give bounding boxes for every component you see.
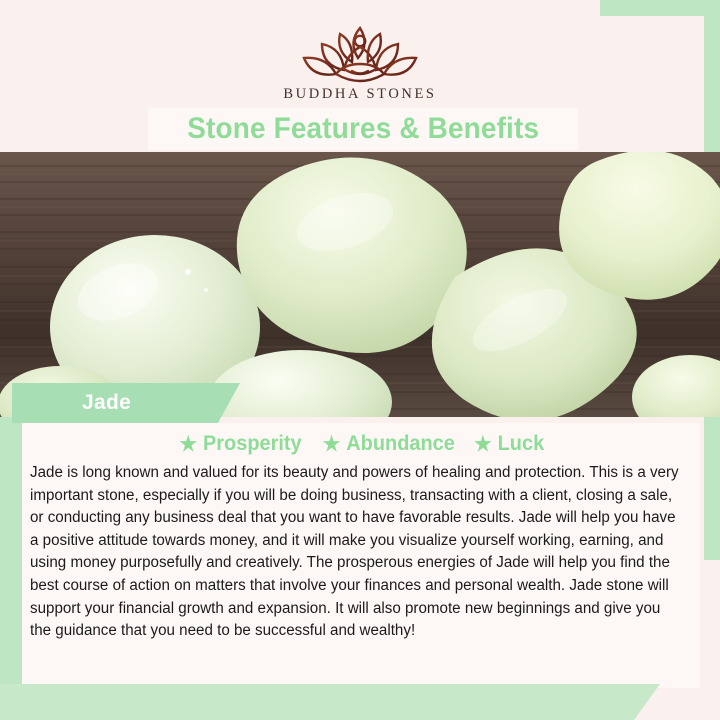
brand-logo: BUDDHA STONES	[0, 18, 720, 103]
content-panel: Prosperity Abundance Luck Jade is long k…	[22, 423, 700, 688]
keyword-row: Prosperity Abundance Luck	[22, 423, 700, 456]
frame-right-lower-accent	[704, 430, 720, 560]
stone-description: Jade is long known and valued for its be…	[30, 462, 682, 643]
keyword-abundance: Abundance	[322, 432, 454, 456]
stone-name-label: Jade	[12, 383, 240, 423]
star-icon	[474, 435, 492, 454]
jade-stones-photo	[0, 152, 720, 417]
brand-wordmark: BUDDHA STONES	[0, 86, 720, 103]
star-icon	[322, 435, 340, 454]
keyword-label: Luck	[498, 432, 545, 456]
poster-root: BUDDHA STONES Stone Features & Benefits …	[0, 0, 720, 720]
keyword-label: Abundance	[346, 432, 455, 456]
stone-name-text: Jade	[82, 391, 131, 415]
frame-top-accent	[600, 0, 720, 16]
frame-bottom-accent	[0, 684, 660, 720]
star-icon	[179, 435, 197, 454]
title-banner: Stone Features & Benefits	[148, 108, 578, 150]
keyword-luck: Luck	[474, 432, 544, 456]
keyword-prosperity: Prosperity	[179, 432, 301, 456]
lotus-meditation-icon	[296, 18, 424, 84]
page-title: Stone Features & Benefits	[187, 112, 539, 146]
keyword-label: Prosperity	[203, 432, 302, 456]
